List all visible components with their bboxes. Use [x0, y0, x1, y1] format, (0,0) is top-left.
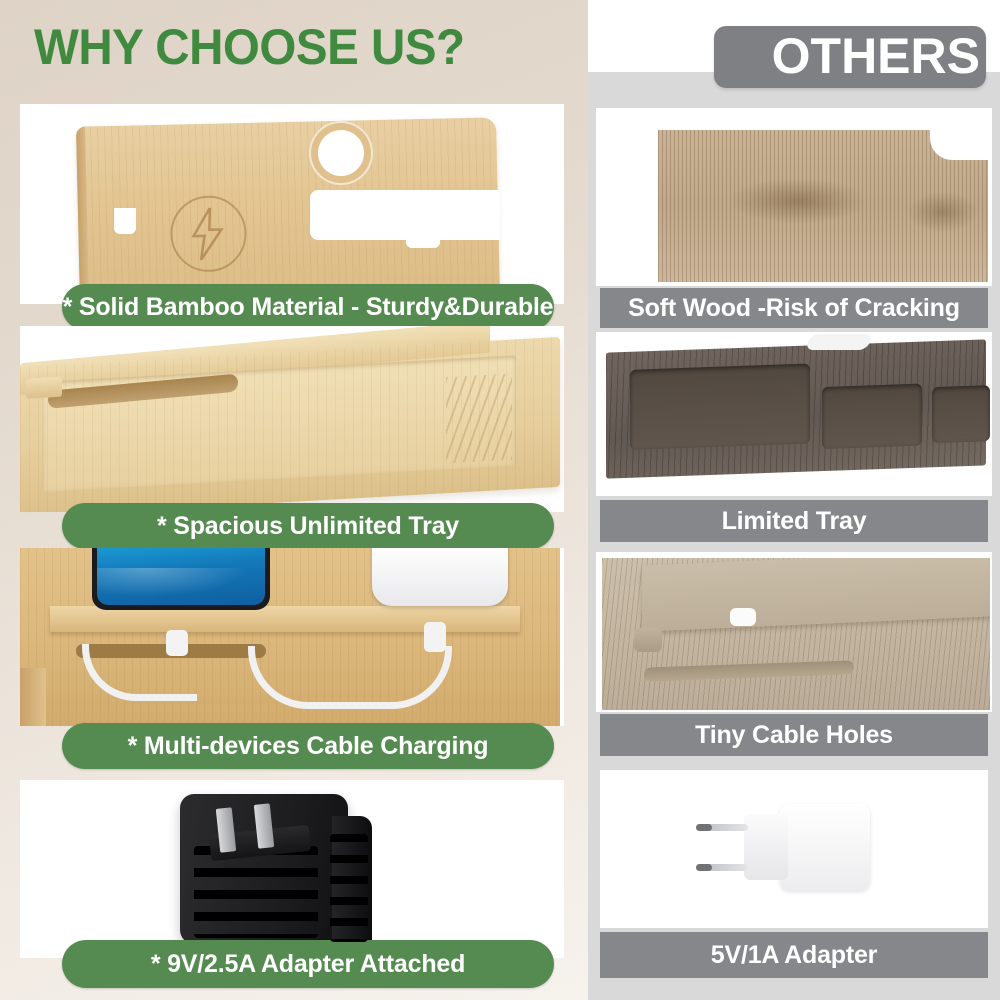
cable-connector-left	[166, 630, 188, 656]
tiny-hole-wood-surface	[602, 558, 990, 710]
charging-cable-right	[248, 646, 452, 709]
wood-blotch-b	[908, 192, 978, 232]
dock-side-leg	[20, 668, 46, 726]
tray-phone-slot	[48, 374, 238, 409]
adapter-prong-1	[216, 807, 237, 852]
photo-black-adapter	[20, 780, 564, 958]
tray-inner-surface	[42, 355, 516, 492]
tray-handle-cutout	[805, 334, 873, 350]
bamboo-tray-shape	[20, 337, 560, 512]
eu-adapter-pin-tip-top	[696, 824, 712, 831]
eu-adapter-body	[780, 804, 870, 890]
board-notch-top	[114, 208, 136, 234]
label-ours-3: * Multi-devices Cable Charging	[62, 723, 554, 769]
board-cutout	[310, 190, 500, 240]
page-title-others: OTHERS	[714, 31, 980, 81]
label-theirs-2-text: Limited Tray	[722, 507, 867, 536]
tray-ridges	[446, 374, 512, 464]
page-title-others-badge: OTHERS	[714, 26, 986, 88]
tray-compartment-small	[932, 385, 990, 443]
smartphone	[92, 548, 270, 610]
label-theirs-1-text: Soft Wood -Risk of Cracking	[628, 294, 960, 323]
tray-compartment-medium	[822, 384, 922, 449]
label-ours-1-text: * Solid Bamboo Material - Sturdy&Durable	[63, 293, 554, 322]
label-ours-4-text: * 9V/2.5A Adapter Attached	[151, 950, 465, 979]
tray-back-panel	[20, 326, 490, 395]
photo-multi-device-charging	[20, 548, 564, 726]
label-ours-2-text: * Spacious Unlimited Tray	[157, 512, 459, 541]
label-theirs-4-text: 5V/1A Adapter	[711, 941, 877, 970]
small-cable-hole	[730, 608, 756, 626]
adapter-prong-2	[254, 803, 275, 848]
photo-white-adapter	[600, 770, 988, 928]
label-ours-4: * 9V/2.5A Adapter Attached	[62, 940, 554, 988]
photo-limited-tray	[596, 332, 992, 496]
photo-spacious-tray	[20, 326, 564, 512]
eu-adapter-pin-tip-bottom	[696, 864, 712, 871]
label-theirs-3-text: Tiny Cable Holes	[695, 721, 893, 750]
dark-tray-shape	[606, 339, 986, 478]
adapter-body	[180, 794, 348, 944]
label-theirs-4: 5V/1A Adapter	[600, 932, 988, 978]
adapter-side-slots	[330, 834, 368, 942]
wood-corner-cut	[930, 130, 988, 160]
photo-tiny-cable-holes	[596, 552, 992, 712]
tray-compartment-large	[630, 364, 810, 450]
phone-screen	[97, 548, 265, 605]
wood-knob	[634, 628, 662, 652]
wood-groove	[644, 660, 854, 681]
label-ours-3-text: * Multi-devices Cable Charging	[128, 732, 489, 761]
board-notch-lower	[406, 226, 440, 248]
page-title-ours: WHY CHOOSE US?	[34, 22, 547, 72]
eu-adapter-neck	[744, 814, 788, 880]
label-theirs-3: Tiny Cable Holes	[600, 714, 988, 756]
photo-soft-wood	[596, 108, 992, 286]
cable-connector-right	[424, 622, 446, 652]
board-edge	[76, 127, 89, 304]
label-theirs-2: Limited Tray	[600, 500, 988, 542]
photo-bamboo-dock-board	[20, 104, 564, 304]
lightning-bolt-icon	[170, 195, 248, 273]
label-ours-2: * Spacious Unlimited Tray	[62, 503, 554, 549]
label-theirs-1: Soft Wood -Risk of Cracking	[600, 288, 988, 328]
label-ours-1: * Solid Bamboo Material - Sturdy&Durable	[62, 284, 554, 330]
wood-blotch-a	[728, 178, 868, 224]
soft-wood-plank	[658, 130, 988, 282]
board-cable-hole	[318, 130, 364, 176]
earbuds-case	[372, 548, 508, 606]
comparison-infographic: WHY CHOOSE US? OTHERS * Solid Bamboo Mat…	[0, 0, 1000, 1000]
tray-side-stub	[26, 377, 62, 399]
wood-back-panel	[642, 558, 990, 632]
